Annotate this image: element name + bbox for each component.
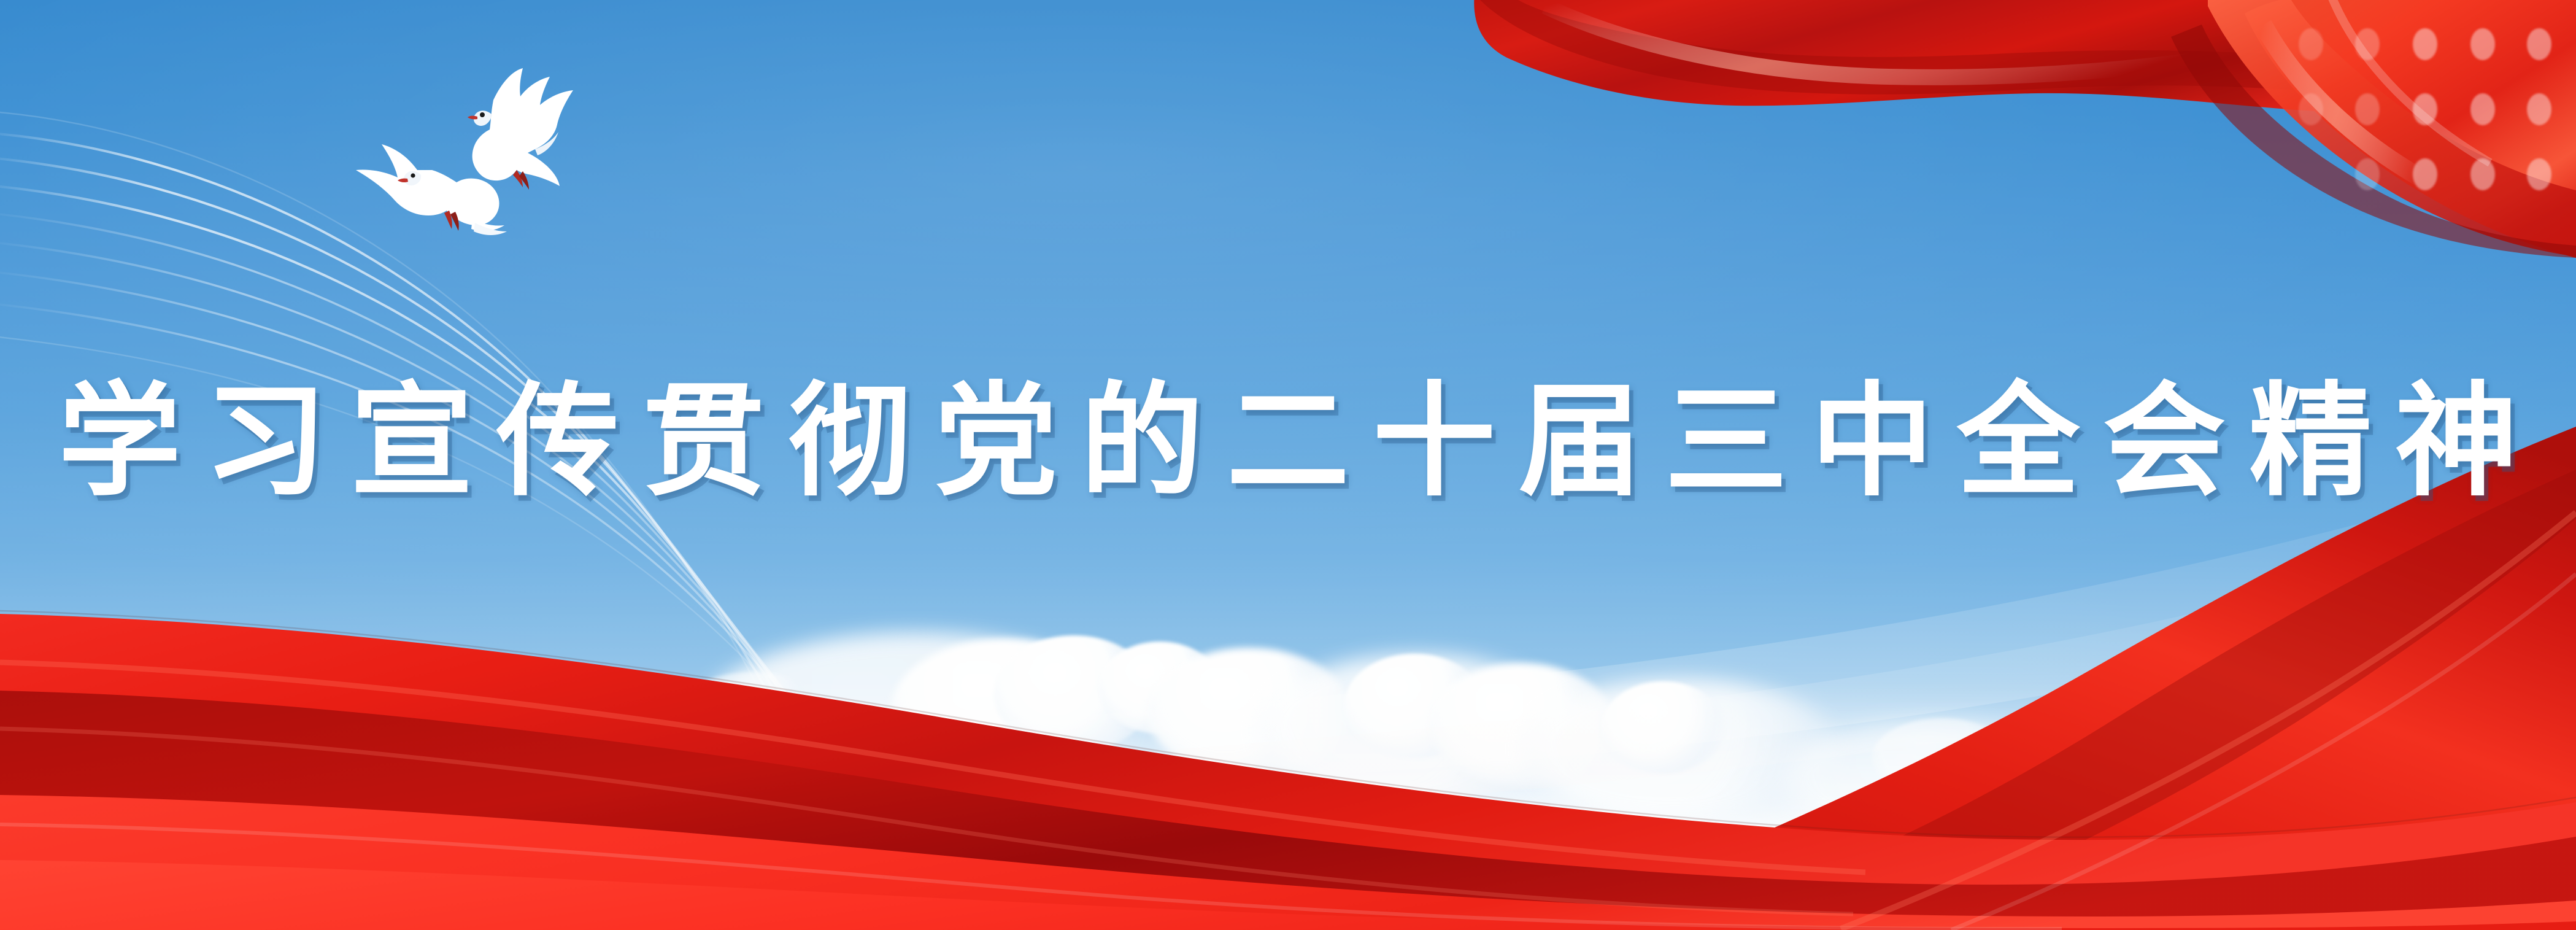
dove-group bbox=[344, 58, 607, 242]
banner-root: 学习宣传贯彻党的二十届三中全会精神 bbox=[0, 0, 2576, 930]
red-silk-ribbon-top-right bbox=[1165, 0, 2576, 258]
page-title: 学习宣传贯彻党的二十届三中全会精神 bbox=[0, 382, 2576, 505]
white-dove-right bbox=[468, 68, 573, 190]
